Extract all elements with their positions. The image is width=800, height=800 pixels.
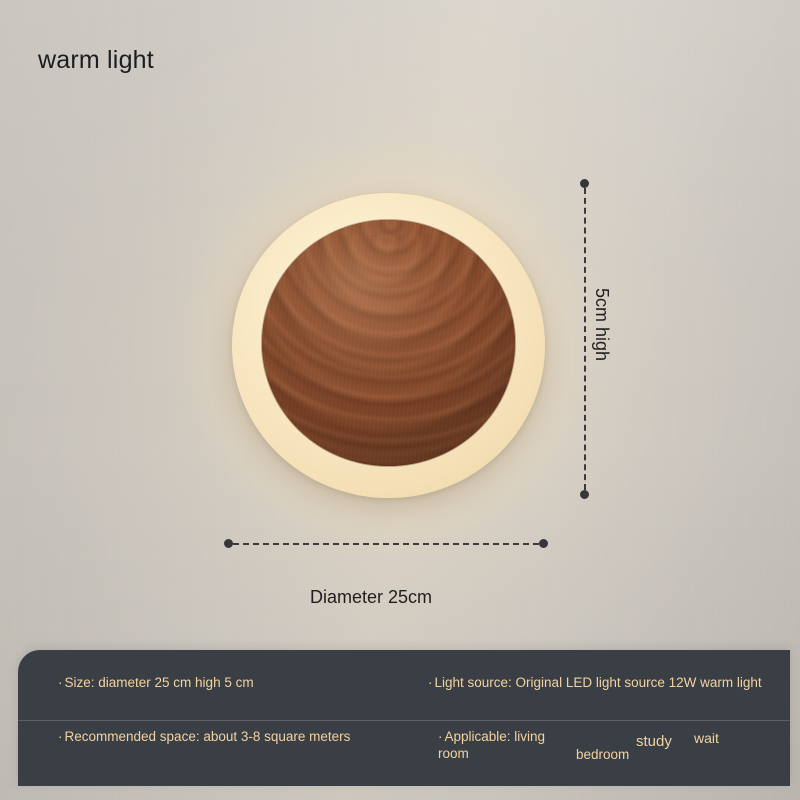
height-label: 5cm high [591,288,612,361]
wall-lamp [232,193,545,498]
spec-size: Size: diameter 25 cm high 5 cm [18,674,418,718]
spec-row-1: Size: diameter 25 cm high 5 cm Light sou… [18,674,790,718]
panel-row-divider [18,720,790,721]
page-title: warm light [38,46,154,75]
applicable-tag-bedroom: bedroom [576,746,620,763]
dimension-dashed-line [233,543,539,545]
dimension-endpoint-dot [580,179,589,188]
spec-recommended-space: Recommended space: about 3-8 square mete… [18,728,418,784]
dimension-endpoint-dot [224,539,233,548]
spec-info-panel: Size: diameter 25 cm high 5 cm Light sou… [18,650,790,786]
spec-row-2: Recommended space: about 3-8 square mete… [18,728,790,784]
diameter-dimension-line [227,543,545,545]
applicable-tag-wait: wait [694,730,719,748]
dimension-endpoint-dot [539,539,548,548]
height-dimension-line [584,182,586,496]
applicable-tag-study: study [636,732,672,751]
spec-recommended-space-text: Recommended space: about 3-8 square mete… [58,729,350,744]
spec-light-source-text: Light source: Original LED light source … [428,675,762,690]
applicable-tags-group: Applicable: living room bedroom study wa… [428,728,790,784]
lamp-walnut-disc [262,220,515,466]
product-image-scene: warm light Diameter 25cm 5cm high Size: … [0,0,800,800]
dimension-dashed-line [584,188,586,490]
spec-applicable: Applicable: living room bedroom study wa… [418,728,790,784]
spec-size-text: Size: diameter 25 cm high 5 cm [58,675,254,690]
dimension-endpoint-dot [580,490,589,499]
diameter-label: Diameter 25cm [310,587,432,608]
applicable-label: Applicable: living room [438,728,568,763]
wood-shading-overlay [262,220,515,466]
spec-light-source: Light source: Original LED light source … [418,674,790,718]
